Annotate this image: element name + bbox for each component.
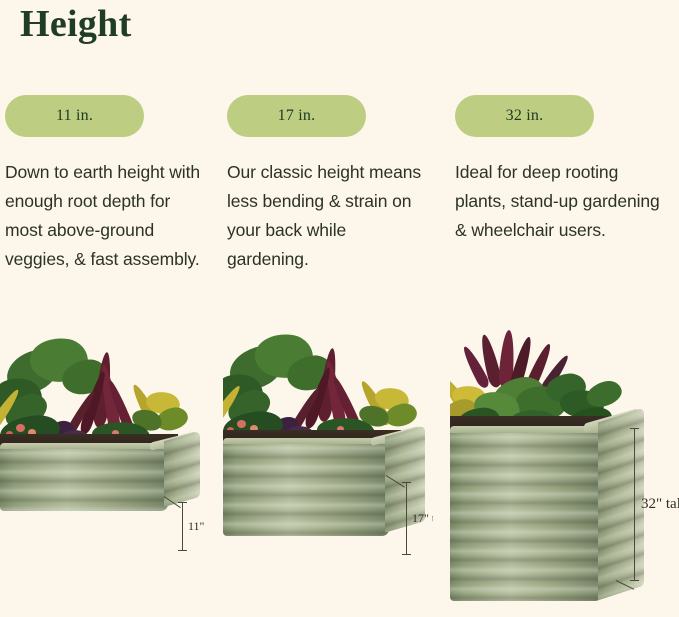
product-photo-32in: 32" tall	[450, 330, 679, 617]
dimension-label: 32" tall	[641, 496, 679, 513]
product-photo-11in: 11" tall	[0, 330, 205, 617]
height-description-17in: Our classic height means less bending & …	[227, 158, 427, 274]
dimension-label: 11" tall	[188, 519, 205, 534]
pill-label: 11 in.	[56, 107, 93, 125]
height-option-pill-17in[interactable]: 17 in.	[227, 95, 366, 137]
height-description-11in: Down to earth height with enough root de…	[5, 158, 205, 274]
height-comparison-section: Height 11 in. 17 in. 32 in. Down to eart…	[0, 0, 679, 617]
product-photo-17in: 17" tall	[223, 330, 433, 617]
dimension-label: 17" tall	[412, 511, 433, 526]
height-option-pill-32in[interactable]: 32 in.	[455, 95, 594, 137]
page-title: Height	[20, 2, 132, 46]
pill-label: 17 in.	[278, 107, 316, 125]
height-option-pill-11in[interactable]: 11 in.	[5, 95, 144, 137]
height-description-32in: Ideal for deep rooting plants, stand-up …	[455, 158, 665, 245]
pill-label: 32 in.	[506, 107, 544, 125]
